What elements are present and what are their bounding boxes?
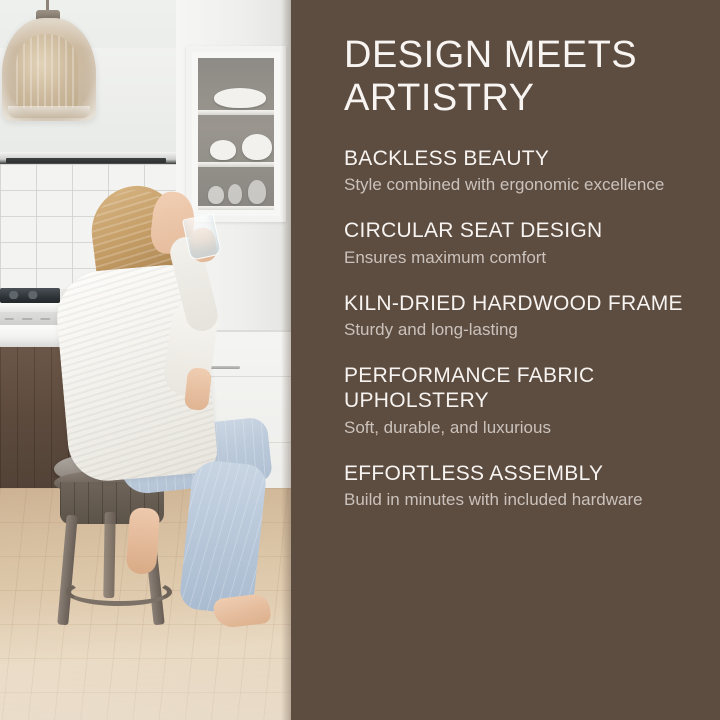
feature-item-circular-seat-design: CIRCULAR SEAT DESIGN Ensures maximum com… — [344, 218, 690, 267]
feature-item-performance-fabric-upholstery: PERFORMANCE FABRIC UPHOLSTERY Soft, dura… — [344, 363, 690, 438]
drinking-glass — [248, 180, 266, 204]
barstool-footrest-ring — [66, 578, 172, 606]
lifestyle-photo — [0, 0, 291, 720]
feature-description: Ensures maximum comfort — [344, 247, 690, 268]
feature-title: KILN-DRIED HARDWOOD FRAME — [344, 291, 690, 316]
feature-item-kiln-dried-hardwood-frame: KILN-DRIED HARDWOOD FRAME Sturdy and lon… — [344, 291, 690, 340]
page-title: DESIGN MEETS ARTISTRY — [344, 34, 690, 120]
feature-title: EFFORTLESS ASSEMBLY — [344, 461, 690, 486]
drinking-glass — [208, 186, 224, 204]
photo-edge-shadow — [281, 0, 291, 720]
drinking-glass — [228, 184, 242, 204]
serving-platter — [214, 88, 266, 108]
feature-title: PERFORMANCE FABRIC UPHOLSTERY — [344, 363, 690, 413]
cabinet-seam — [200, 376, 291, 377]
cabinet-shelf — [198, 206, 274, 210]
stacked-bowls — [210, 140, 236, 160]
feature-description: Sturdy and long-lasting — [344, 319, 690, 340]
resting-hand — [184, 367, 212, 411]
feature-item-backless-beauty: BACKLESS BEAUTY Style combined with ergo… — [344, 146, 690, 195]
large-bowl — [242, 134, 272, 160]
feature-description: Style combined with ergonomic excellence — [344, 174, 690, 195]
cabinet-interior — [198, 58, 274, 210]
range-knobs — [0, 312, 64, 325]
kitchen-scene — [0, 0, 291, 720]
feature-copy-panel: DESIGN MEETS ARTISTRY BACKLESS BEAUTY St… — [291, 0, 720, 720]
feature-item-effortless-assembly: EFFORTLESS ASSEMBLY Build in minutes wit… — [344, 461, 690, 510]
feature-title: CIRCULAR SEAT DESIGN — [344, 218, 690, 243]
feature-description: Build in minutes with included hardware — [344, 489, 690, 510]
range-hood-vent — [6, 158, 166, 163]
feature-title: BACKLESS BEAUTY — [344, 146, 690, 171]
cabinet-shelf — [198, 110, 274, 115]
jeans-shin — [178, 459, 267, 616]
feature-list: BACKLESS BEAUTY Style combined with ergo… — [344, 146, 690, 510]
pendant-light — [2, 18, 96, 121]
product-feature-infographic: DESIGN MEETS ARTISTRY BACKLESS BEAUTY St… — [0, 0, 720, 720]
feature-description: Soft, durable, and luxurious — [344, 417, 690, 438]
cabinet-shelf — [198, 162, 274, 167]
gas-cooktop — [0, 288, 60, 303]
back-foot — [126, 507, 161, 575]
glass-front-cabinet — [186, 46, 286, 222]
